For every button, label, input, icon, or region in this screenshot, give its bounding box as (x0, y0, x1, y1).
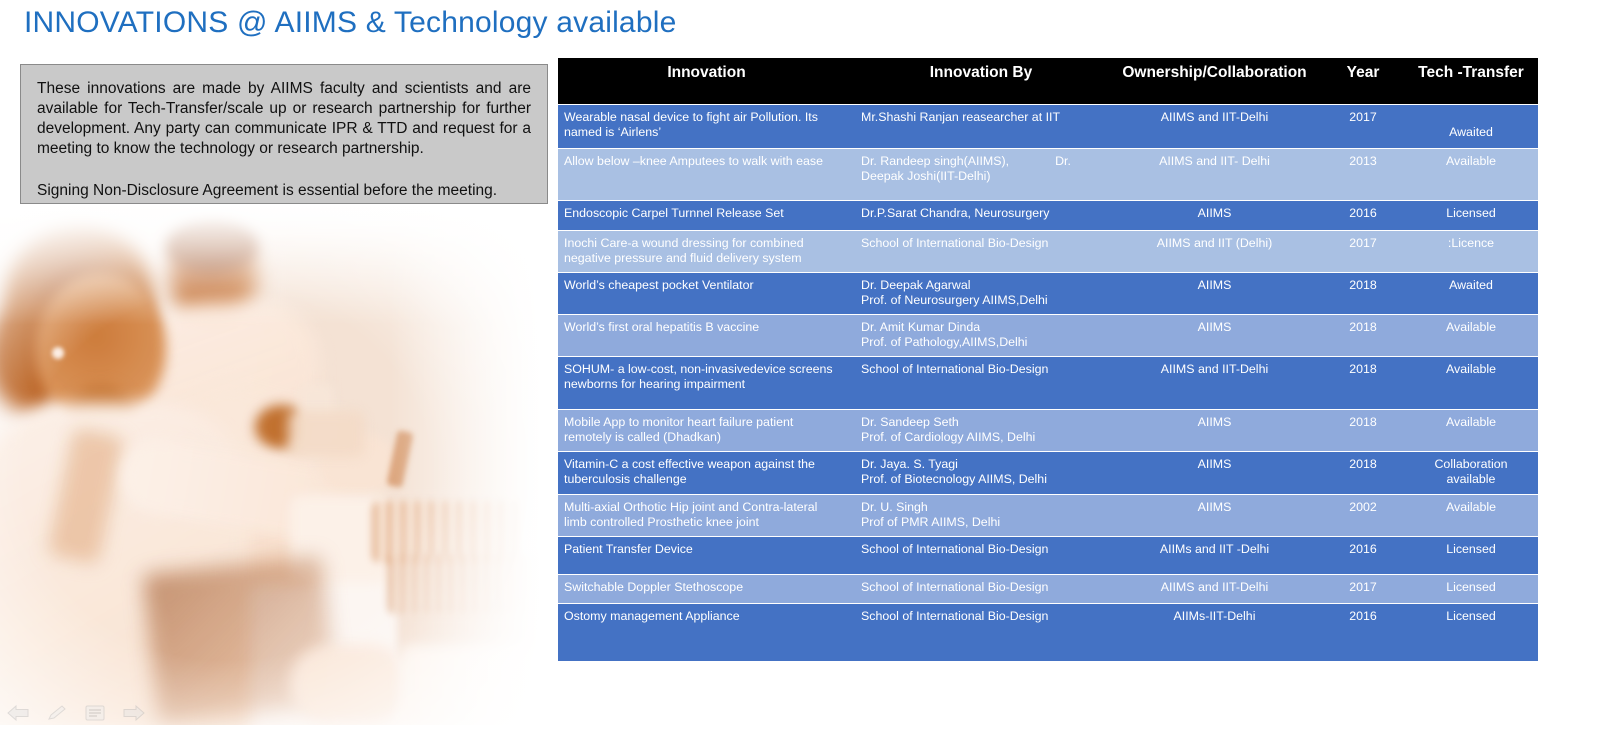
cell-innovation-by: School of International Bio-Design (855, 356, 1107, 409)
innovations-table: Innovation Innovation By Ownership/Colla… (558, 58, 1538, 661)
table-row: World’s cheapest pocket VentilatorDr. De… (558, 272, 1538, 314)
table-row: Mobile App to monitor heart failure pati… (558, 409, 1538, 451)
table-row: Allow below –knee Amputees to walk with … (558, 148, 1538, 200)
cell-tech-transfer: :Licence (1404, 230, 1538, 272)
cell-year: 2018 (1322, 451, 1404, 494)
table-row: World’s first oral hepatitis B vaccineDr… (558, 314, 1538, 356)
cell-innovation: Endoscopic Carpel Turnnel Release Set (558, 200, 855, 230)
status-badge: Licensed (1446, 609, 1496, 623)
cell-year: 2016 (1322, 536, 1404, 574)
page-title: INNOVATIONS @ AIIMS & Technology availab… (24, 6, 676, 40)
cell-innovation-line2: limb controlled Prosthetic knee joint (564, 515, 849, 530)
cell-tech-transfer: Collaborationavailable (1404, 451, 1538, 494)
cell-innovation-by: Dr.P.Sarat Chandra, Neurosurgery (855, 200, 1107, 230)
cell-innovation-by: Dr. Randeep singh(AIIMS),Dr.Deepak Joshi… (855, 148, 1107, 200)
status-badge: Collaboration (1434, 457, 1507, 471)
intro-paragraph-2: Signing Non-Disclosure Agreement is esse… (37, 181, 531, 201)
status-badge-line2: available (1410, 472, 1532, 487)
cell-innovation: Vitamin-C a cost effective weapon agains… (558, 451, 855, 494)
table-header-row: Innovation Innovation By Ownership/Colla… (558, 58, 1538, 104)
laboratory-photo (0, 205, 540, 725)
table-row: Ostomy management ApplianceSchool of Int… (558, 603, 1538, 661)
column-header-ownership: Ownership/Collaboration (1107, 58, 1322, 104)
cell-ownership: AIIMs-IIT-Delhi (1107, 603, 1322, 661)
column-header-year: Year (1322, 58, 1404, 104)
cell-ownership: AIIMS (1107, 314, 1322, 356)
status-badge: Available (1446, 500, 1496, 514)
slide-menu-icon[interactable] (84, 704, 106, 722)
cell-ownership: AIIMS (1107, 200, 1322, 230)
next-slide-icon[interactable] (122, 704, 146, 722)
cell-tech-transfer: Awaited (1404, 104, 1538, 148)
innovations-table-container: Innovation Innovation By Ownership/Colla… (558, 58, 1538, 661)
status-badge: Licensed (1446, 580, 1496, 594)
table-body: Wearable nasal device to fight air Pollu… (558, 104, 1538, 661)
cell-ownership: AIIMS (1107, 451, 1322, 494)
table-row: Switchable Doppler StethoscopeSchool of … (558, 574, 1538, 603)
cell-tech-transfer: Licensed (1404, 603, 1538, 661)
cell-innovation-by: Dr. Jaya. S. TyagiProf. of Biotecnology … (855, 451, 1107, 494)
table-header: Innovation Innovation By Ownership/Colla… (558, 58, 1538, 104)
cell-year: 2002 (1322, 494, 1404, 536)
cell-innovation-by-line2: Prof. of Cardiology AIIMS, Delhi (861, 430, 1101, 445)
intro-paragraph-1: These innovations are made by AIIMS facu… (37, 79, 531, 159)
column-header-tech-transfer: Tech -Transfer (1404, 58, 1538, 104)
cell-tech-transfer: Available (1404, 494, 1538, 536)
status-badge: :Licence (1448, 236, 1494, 250)
cell-innovation-by: Mr.Shashi Ranjan reasearcher at IIT (855, 104, 1107, 148)
cell-innovation: World’s cheapest pocket Ventilator (558, 272, 855, 314)
cell-year: 2018 (1322, 314, 1404, 356)
cell-innovation: Ostomy management Appliance (558, 603, 855, 661)
table-row: Endoscopic Carpel Turnnel Release SetDr.… (558, 200, 1538, 230)
pen-icon[interactable] (46, 704, 68, 722)
table-row: Patient Transfer DeviceSchool of Interna… (558, 536, 1538, 574)
status-badge: Available (1446, 415, 1496, 429)
cell-ownership: AIIMS and IIT-Delhi (1107, 356, 1322, 409)
status-badge: Available (1446, 320, 1496, 334)
cell-innovation: Multi-axial Orthotic Hip joint and Contr… (558, 494, 855, 536)
cell-tech-transfer: Available (1404, 409, 1538, 451)
cell-innovation-by-line2: Prof. of Neurosurgery AIIMS,Delhi (861, 293, 1101, 308)
cell-tech-transfer: Licensed (1404, 574, 1538, 603)
cell-innovation-by: School of International Bio-Design (855, 536, 1107, 574)
table-row: Vitamin-C a cost effective weapon agains… (558, 451, 1538, 494)
cell-year: 2016 (1322, 603, 1404, 661)
intro-text-box: These innovations are made by AIIMS facu… (20, 64, 548, 204)
cell-year: 2018 (1322, 409, 1404, 451)
status-badge: Available (1446, 362, 1496, 376)
table-row: Wearable nasal device to fight air Pollu… (558, 104, 1538, 148)
cell-innovation-by: School of International Bio-Design (855, 603, 1107, 661)
cell-innovation-line2: named is ‘Airlens’ (564, 125, 849, 140)
cell-tech-transfer: Available (1404, 356, 1538, 409)
cell-year: 2017 (1322, 574, 1404, 603)
photo-canvas (0, 205, 540, 725)
presentation-nav-bar[interactable] (6, 704, 146, 722)
cell-innovation-by: School of International Bio-Design (855, 230, 1107, 272)
cell-year: 2013 (1322, 148, 1404, 200)
cell-tech-transfer: Available (1404, 148, 1538, 200)
cell-tech-transfer: Licensed (1404, 536, 1538, 574)
cell-innovation-line2: negative pressure and fluid delivery sys… (564, 251, 849, 266)
cell-innovation: Wearable nasal device to fight air Pollu… (558, 104, 855, 148)
cell-innovation: Inochi Care-a wound dressing for combine… (558, 230, 855, 272)
column-header-innovation: Innovation (558, 58, 855, 104)
cell-innovation: World’s first oral hepatitis B vaccine (558, 314, 855, 356)
status-badge: Licensed (1446, 206, 1496, 220)
cell-year: 2018 (1322, 272, 1404, 314)
cell-ownership: AIIMS (1107, 272, 1322, 314)
cell-tech-transfer: Available (1404, 314, 1538, 356)
status-badge: Awaited (1449, 278, 1493, 292)
cell-innovation: Mobile App to monitor heart failure pati… (558, 409, 855, 451)
cell-innovation-by-extra: Dr. (1055, 154, 1071, 168)
status-badge: Awaited (1410, 125, 1532, 140)
cell-innovation-by-line2: Prof. of Pathology,AIIMS,Delhi (861, 335, 1101, 350)
cell-innovation-by: Dr. Amit Kumar DindaProf. of Pathology,A… (855, 314, 1107, 356)
cell-tech-transfer: Awaited (1404, 272, 1538, 314)
table-row: Multi-axial Orthotic Hip joint and Contr… (558, 494, 1538, 536)
cell-ownership: AIIMs and IIT -Delhi (1107, 536, 1322, 574)
cell-year: 2016 (1322, 200, 1404, 230)
cell-innovation: Switchable Doppler Stethoscope (558, 574, 855, 603)
cell-innovation-line2: tuberculosis challenge (564, 472, 849, 487)
cell-innovation-by: Dr. Deepak AgarwalProf. of Neurosurgery … (855, 272, 1107, 314)
cell-ownership: AIIMS and IIT- Delhi (1107, 148, 1322, 200)
cell-ownership: AIIMS and IIT (Delhi) (1107, 230, 1322, 272)
table-row: Inochi Care-a wound dressing for combine… (558, 230, 1538, 272)
cell-innovation-by-line2: Deepak Joshi(IIT-Delhi) (861, 169, 1101, 184)
column-header-innovation-by: Innovation By (855, 58, 1107, 104)
cell-innovation-by: School of International Bio-Design (855, 574, 1107, 603)
cell-innovation-by-line2: Prof. of Biotecnology AIIMS, Delhi (861, 472, 1101, 487)
cell-innovation: Patient Transfer Device (558, 536, 855, 574)
cell-year: 2017 (1322, 104, 1404, 148)
previous-slide-icon[interactable] (6, 704, 30, 722)
cell-innovation: Allow below –knee Amputees to walk with … (558, 148, 855, 200)
cell-ownership: AIIMS and IIT-Delhi (1107, 104, 1322, 148)
cell-innovation-by: Dr. U. SinghProf of PMR AIIMS, Delhi (855, 494, 1107, 536)
status-badge: Available (1446, 154, 1496, 168)
cell-innovation-line2: newborns for hearing impairment (564, 377, 849, 392)
cell-year: 2017 (1322, 230, 1404, 272)
cell-innovation: SOHUM- a low-cost, non-invasivedevice sc… (558, 356, 855, 409)
cell-innovation-by: Dr. Sandeep SethProf. of Cardiology AIIM… (855, 409, 1107, 451)
cell-innovation-by-line2: Prof of PMR AIIMS, Delhi (861, 515, 1101, 530)
cell-tech-transfer: Licensed (1404, 200, 1538, 230)
cell-innovation-line2: remotely is called (Dhadkan) (564, 430, 849, 445)
presentation-slide: INNOVATIONS @ AIIMS & Technology availab… (0, 0, 1600, 744)
cell-ownership: AIIMS (1107, 494, 1322, 536)
cell-ownership: AIIMS (1107, 409, 1322, 451)
cell-year: 2018 (1322, 356, 1404, 409)
status-badge: Licensed (1446, 542, 1496, 556)
cell-ownership: AIIMS and IIT-Delhi (1107, 574, 1322, 603)
table-row: SOHUM- a low-cost, non-invasivedevice sc… (558, 356, 1538, 409)
